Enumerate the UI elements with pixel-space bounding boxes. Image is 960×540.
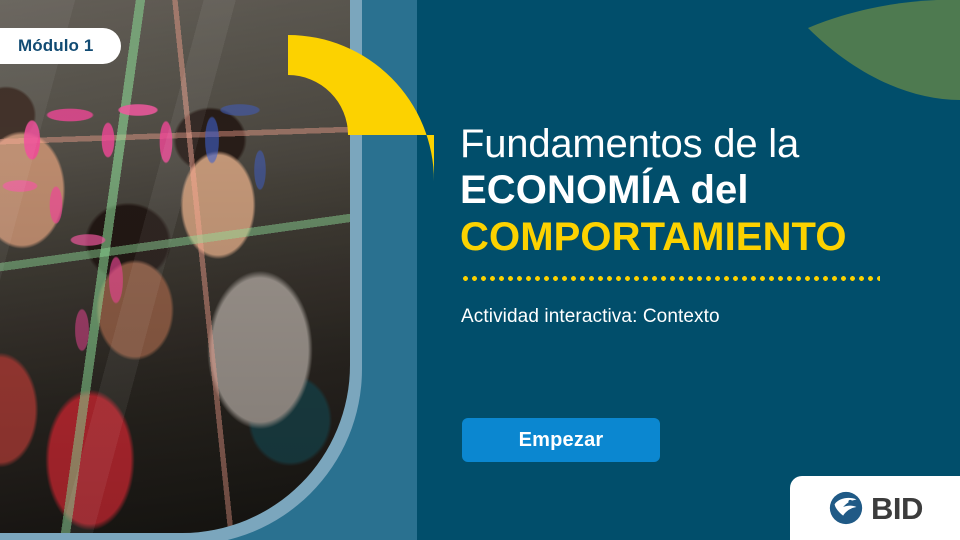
yellow-quarter-arc-icon [288, 35, 434, 181]
module-badge: Módulo 1 [0, 28, 121, 64]
title-line-1: Fundamentos de la [460, 122, 847, 167]
activity-subtitle: Actividad interactiva: Contexto [461, 306, 720, 328]
module-badge-label: Módulo 1 [18, 36, 93, 56]
start-button[interactable]: Empezar [462, 418, 660, 462]
page-title: Fundamentos de la ECONOMÍA del COMPORTAM… [460, 122, 847, 261]
content-column: Fundamentos de la ECONOMÍA del COMPORTAM… [460, 0, 960, 540]
bid-logo-text: BID [871, 493, 923, 524]
bid-logo: BID [790, 476, 960, 540]
dotted-divider [461, 276, 880, 281]
bid-swoosh-icon [827, 489, 865, 527]
slide-root: Módulo 1 Fundamentos de la ECONOMÍA del … [0, 0, 960, 540]
title-line-2: ECONOMÍA del [460, 167, 847, 214]
title-line-3: COMPORTAMIENTO [460, 214, 847, 261]
